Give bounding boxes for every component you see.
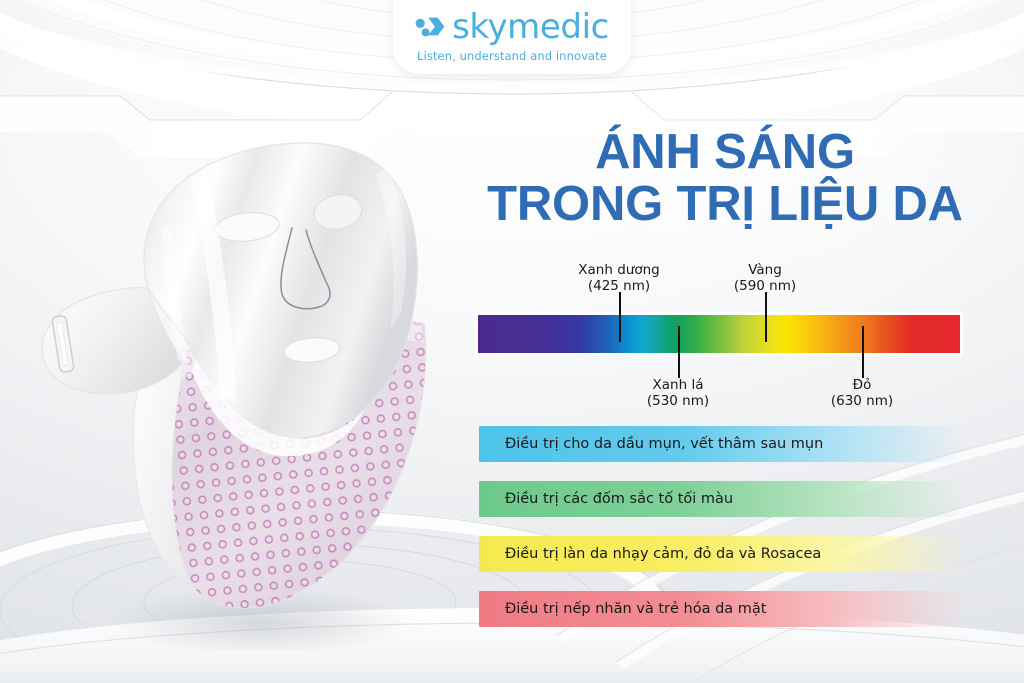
spectrum-label-530-nm: (530 nm) bbox=[608, 393, 748, 409]
treatment-list: Điều trị cho da dầu mụn, vết thâm sau mụ… bbox=[479, 426, 964, 646]
spectrum-tick-425 bbox=[619, 292, 621, 342]
spectrum-tick-630 bbox=[862, 326, 864, 378]
treatment-label-yellow: Điều trị làn da nhạy cảm, đỏ da và Rosac… bbox=[479, 546, 821, 562]
treatment-label-blue: Điều trị cho da dầu mụn, vết thâm sau mụ… bbox=[479, 436, 823, 452]
title-line-2: TRONG TRỊ LIỆU DA bbox=[470, 178, 980, 230]
spectrum-label-630-name: Đỏ bbox=[853, 377, 872, 393]
spectrum-label-630-nm: (630 nm) bbox=[792, 393, 932, 409]
spectrum-tick-530 bbox=[678, 326, 680, 378]
product-image-led-mask bbox=[20, 110, 450, 650]
infographic-canvas: skymedic Listen, understand and innovate… bbox=[0, 0, 1024, 683]
spectrum-label-530: Xanh lá (530 nm) bbox=[608, 377, 748, 410]
led-mask-illustration bbox=[20, 110, 450, 650]
page-title: ÁNH SÁNG TRONG TRỊ LIỆU DA bbox=[470, 126, 980, 231]
brand-name: skymedic bbox=[452, 10, 609, 44]
spectrum-label-630: Đỏ (630 nm) bbox=[792, 377, 932, 410]
spectrum-chart: Xanh dương (425 nm) Xanh lá (530 nm) Vàn… bbox=[478, 262, 964, 412]
treatment-label-red: Điều trị nếp nhăn và trẻ hóa da mặt bbox=[479, 601, 766, 617]
spectrum-label-590: Vàng (590 nm) bbox=[695, 262, 835, 295]
treatment-row-red: Điều trị nếp nhăn và trẻ hóa da mặt bbox=[479, 591, 964, 627]
treatment-label-green: Điều trị các đốm sắc tố tối màu bbox=[479, 491, 733, 507]
treatment-row-blue: Điều trị cho da dầu mụn, vết thâm sau mụ… bbox=[479, 426, 964, 462]
spectrum-tick-590 bbox=[765, 292, 767, 342]
spectrum-colorbar bbox=[478, 315, 960, 353]
spectrum-label-590-nm: (590 nm) bbox=[695, 278, 835, 294]
skymedic-logo-icon bbox=[415, 13, 445, 41]
mask-face-shell bbox=[42, 143, 417, 456]
spectrum-label-530-name: Xanh lá bbox=[653, 377, 704, 393]
brand-logo[interactable]: skymedic Listen, understand and innovate bbox=[393, 10, 631, 74]
brand-tagline: Listen, understand and innovate bbox=[417, 49, 607, 63]
spectrum-label-425: Xanh dương (425 nm) bbox=[549, 262, 689, 295]
title-line-1: ÁNH SÁNG bbox=[595, 125, 855, 179]
treatment-row-yellow: Điều trị làn da nhạy cảm, đỏ da và Rosac… bbox=[479, 536, 964, 572]
spectrum-label-425-name: Xanh dương bbox=[578, 262, 659, 278]
spectrum-label-590-name: Vàng bbox=[748, 262, 782, 278]
spectrum-label-425-nm: (425 nm) bbox=[549, 278, 689, 294]
treatment-row-green: Điều trị các đốm sắc tố tối màu bbox=[479, 481, 964, 517]
